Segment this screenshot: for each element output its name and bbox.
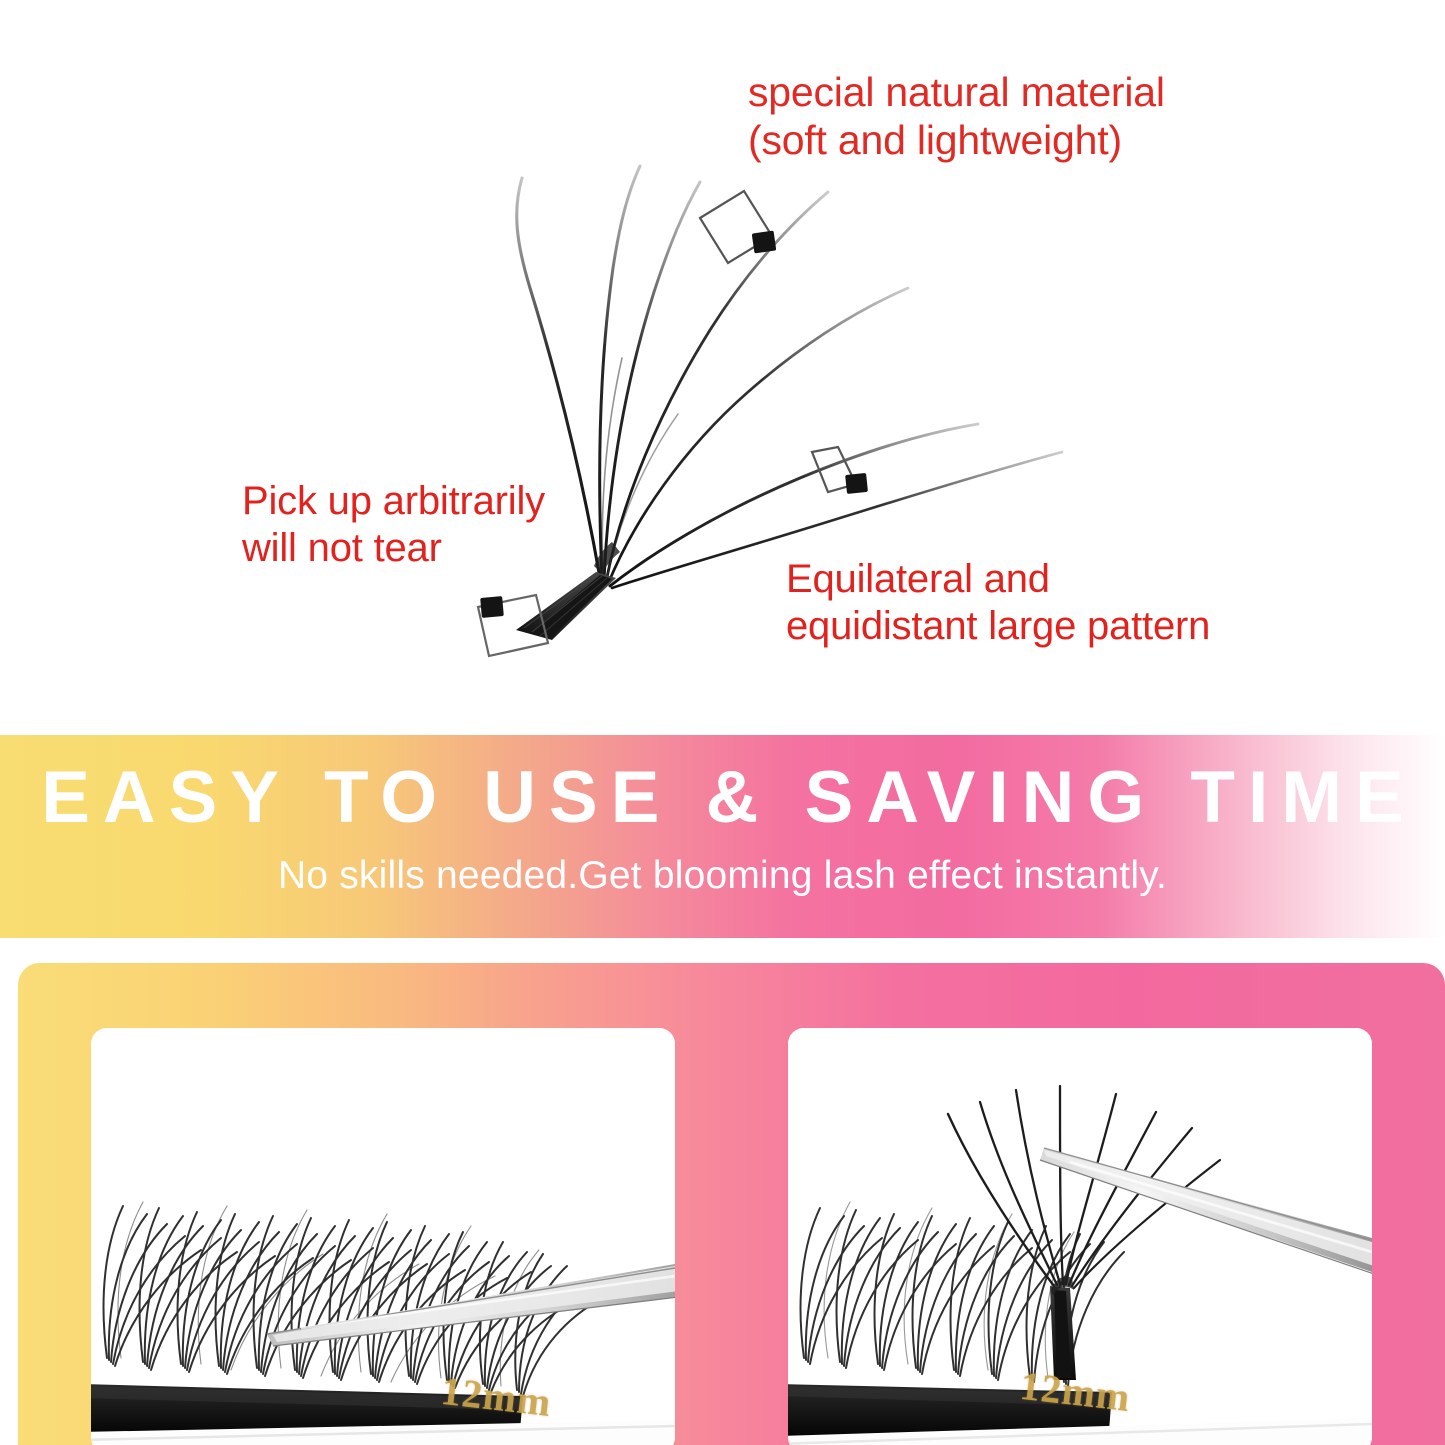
- feature-diagram-section: special natural material (soft and light…: [0, 0, 1445, 735]
- lash-fan-filaments: [517, 166, 1062, 588]
- product-photos-section: 12mm: [0, 938, 1445, 1445]
- lash-fan-diagram: [0, 0, 1445, 735]
- callout-label-material: special natural material (soft and light…: [748, 68, 1165, 165]
- callout-label-pickup: Pick up arbitrarily will not tear: [242, 478, 545, 572]
- callout-marker-top: [700, 191, 776, 263]
- banner-subtitle: No skills needed.Get blooming lash effec…: [0, 856, 1445, 895]
- lash-tray-tweezers-photo: [91, 1028, 675, 1445]
- banner-title: EASY TO USE & SAVING TIME: [0, 761, 1445, 834]
- photo-card-right: 12mm: [788, 1028, 1372, 1445]
- promo-banner: EASY TO USE & SAVING TIME No skills need…: [0, 735, 1445, 938]
- callout-label-equilateral: Equilateral and equidistant large patter…: [786, 556, 1210, 650]
- photo-card-left: 12mm: [91, 1028, 675, 1445]
- photo-gradient-frame: 12mm: [18, 963, 1445, 1445]
